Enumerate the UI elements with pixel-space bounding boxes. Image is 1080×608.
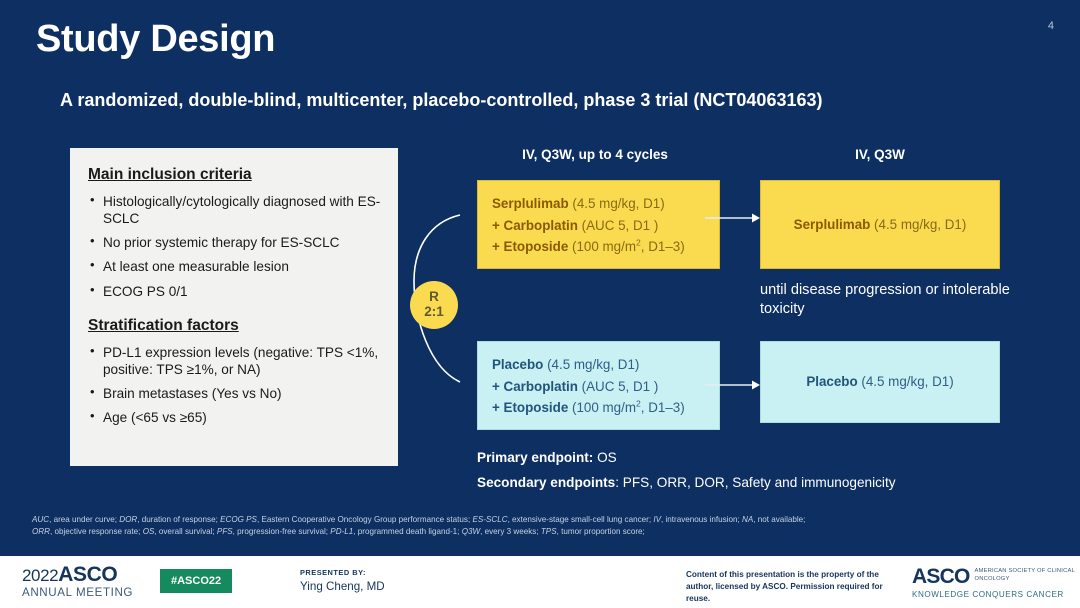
abbr-term: ES-SCLC [472,515,507,524]
primary-endpoint-label: Primary endpoint: [477,450,593,465]
arm-line: + Carboplatin (AUC 5, D1 ) [492,215,705,237]
abbr-term: PD-L1 [330,527,353,536]
asco-annual-meeting-logo: 2022ASCO ANNUAL MEETING [22,564,133,599]
asco-logo: ASCO AMERICAN SOCIETY OF CLINICAL ONCOLO… [912,566,1080,599]
randomization-node: R 2:1 [410,281,458,329]
drug-name: + Carboplatin [492,379,578,394]
logo-line-primary: 2022ASCO [22,564,133,585]
primary-endpoint-value: OS [593,450,616,465]
abbr-term: IV [653,515,661,524]
drug-dose: (4.5 mg/kg, D1) [870,217,966,232]
abbr-term: ORR [32,527,50,536]
arm-line: Placebo (4.5 mg/kg, D1) [806,371,953,393]
drug-dose: (4.5 mg/kg, D1) [543,357,639,372]
abbr-def: , extensive-stage small-cell lung cancer… [508,515,654,524]
abbr-term: NA [742,515,753,524]
inclusion-criteria-list: Histologically/cytologically diagnosed w… [88,193,382,300]
abbr-def: , Eastern Cooperative Oncology Group per… [257,515,473,524]
drug-name: Placebo [806,374,857,389]
arm-line: Serplulimab (4.5 mg/kg, D1) [492,193,705,215]
maintenance-phase-header: IV, Q3W [760,147,1000,162]
drug-dose-post: , D1–3) [641,400,685,415]
arm-line: Placebo (4.5 mg/kg, D1) [492,354,705,376]
abbr-def: , not available; [753,515,805,524]
list-item: At least one measurable lesion [88,258,382,275]
drug-name: + Etoposide [492,239,568,254]
abbr-def: , tumor proportion score; [557,527,645,536]
list-item: No prior systemic therapy for ES-SCLC [88,234,382,251]
drug-name: Serplulimab [794,217,871,232]
secondary-endpoints-label: Secondary endpoints [477,475,615,490]
maintenance-experimental-arm-box: Serplulimab (4.5 mg/kg, D1) [760,180,1000,269]
list-item: Histologically/cytologically diagnosed w… [88,193,382,227]
abbr-term: ECOG PS [220,515,257,524]
arm-line: + Etoposide (100 mg/m2, D1–3) [492,236,705,258]
abbreviations-line: ORR, objective response rate; OS, overal… [32,526,1060,538]
slide-footer: 2022ASCO ANNUAL MEETING #ASCO22 PRESENTE… [0,556,1080,608]
meeting-brand: ASCO [58,563,117,586]
abbr-def: , progression-free survival; [233,527,331,536]
asco-logo-top: ASCO AMERICAN SOCIETY OF CLINICAL ONCOLO… [912,566,1080,587]
arm-line: + Carboplatin (AUC 5, D1 ) [492,376,705,398]
drug-dose: (AUC 5, D1 ) [578,218,658,233]
abbr-term: Q3W [462,527,480,536]
secondary-endpoints: Secondary endpoints: PFS, ORR, DOR, Safe… [477,475,896,490]
drug-name: + Carboplatin [492,218,578,233]
maintenance-control-arm-box: Placebo (4.5 mg/kg, D1) [760,341,1000,423]
arrow-head-experimental [752,214,760,223]
hashtag-badge: #ASCO22 [160,569,232,593]
drug-dose: (4.5 mg/kg, D1) [858,374,954,389]
induction-control-arm-box: Placebo (4.5 mg/kg, D1) + Carboplatin (A… [477,341,720,430]
arm-line: Serplulimab (4.5 mg/kg, D1) [794,214,967,236]
slide-subtitle: A randomized, double-blind, multicenter,… [60,90,823,111]
drug-dose: (4.5 mg/kg, D1) [569,196,665,211]
abbr-def: , programmed death ligand-1; [353,527,461,536]
meeting-year: 2022 [22,566,58,585]
abbr-def: , every 3 weeks; [480,527,541,536]
drug-name: Serplulimab [492,196,569,211]
randomization-ratio: 2:1 [424,305,444,320]
abbreviations-line: AUC, area under curve; DOR, duration of … [32,514,1060,526]
abbr-term: OS [143,527,155,536]
inclusion-criteria-heading: Main inclusion criteria [88,166,382,184]
abbr-def: , objective response rate; [50,527,143,536]
induction-phase-header: IV, Q3W, up to 4 cycles [470,147,720,162]
abbr-def: , area under curve; [49,515,119,524]
page-title: Study Design [36,18,275,61]
stratification-factors-list: PD-L1 expression levels (negative: TPS <… [88,344,382,427]
asco-tagline: KNOWLEDGE CONQUERS CANCER [912,590,1080,599]
criteria-panel: Main inclusion criteria Histologically/c… [70,148,398,466]
drug-name: + Etoposide [492,400,568,415]
presenter-name: Ying Cheng, MD [300,580,385,593]
list-item: PD-L1 expression levels (negative: TPS <… [88,344,382,378]
arrow-head-control [752,381,760,390]
drug-dose-pre: (100 mg/m [568,400,636,415]
induction-experimental-arm-box: Serplulimab (4.5 mg/kg, D1) + Carboplati… [477,180,720,269]
list-item: Age (<65 vs ≥65) [88,409,382,426]
treatment-continuation-note: until disease progression or intolerable… [760,281,1012,320]
meeting-subtitle: ANNUAL MEETING [22,587,133,599]
abbr-term: AUC [32,515,49,524]
drug-dose-pre: (100 mg/m [568,239,636,254]
asco-wordmark: ASCO [912,566,969,587]
abbreviations-footnote: AUC, area under curve; DOR, duration of … [32,514,1060,539]
primary-endpoint: Primary endpoint: OS [477,450,896,465]
rights-statement: Content of this presentation is the prop… [686,569,906,605]
stratification-factors-heading: Stratification factors [88,317,382,335]
list-item: Brain metastases (Yes vs No) [88,385,382,402]
drug-dose: (AUC 5, D1 ) [578,379,658,394]
presented-by-block: PRESENTED BY: Ying Cheng, MD [300,568,385,593]
abbr-def: , overall survival; [154,527,217,536]
list-item: ECOG PS 0/1 [88,283,382,300]
slide-number: 4 [1048,20,1054,32]
secondary-endpoints-value: : PFS, ORR, DOR, Safety and immunogenici… [615,475,895,490]
randomization-label: R [429,290,439,305]
abbr-term: DOR [119,515,137,524]
arm-line: + Etoposide (100 mg/m2, D1–3) [492,397,705,419]
drug-name: Placebo [492,357,543,372]
abbr-term: PFS [217,527,233,536]
slide-canvas: 4 Study Design A randomized, double-blin… [0,0,1080,608]
abbr-def: , intravenous infusion; [661,515,742,524]
drug-dose-post: , D1–3) [641,239,685,254]
abbr-def: , duration of response; [137,515,220,524]
asco-society-name: AMERICAN SOCIETY OF CLINICAL ONCOLOGY [974,568,1080,583]
presented-by-label: PRESENTED BY: [300,568,385,577]
abbr-term: TPS [541,527,557,536]
endpoints-section: Primary endpoint: OS Secondary endpoints… [477,450,896,500]
